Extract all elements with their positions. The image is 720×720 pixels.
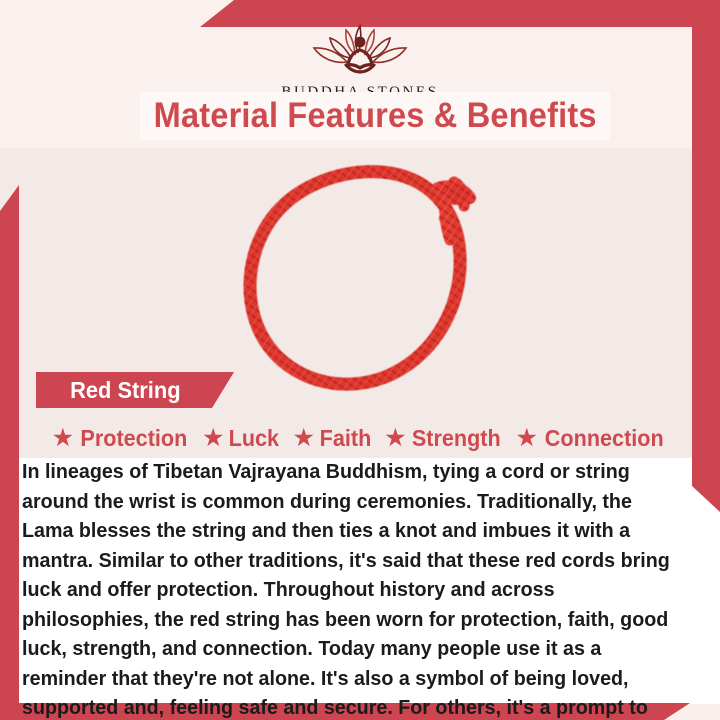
page-title-band: Material Features & Benefits (140, 92, 610, 140)
star-icon: ★ (517, 427, 537, 449)
brand-logo: BUDDHA STONES (0, 20, 720, 101)
benefits-row: ★ Protection ★ Luck ★ Faith ★ Strength ★… (22, 420, 698, 456)
product-name-ribbon: Red String (36, 372, 234, 408)
product-image-red-string-bracelet (232, 152, 494, 400)
benefit-item-connection: ★ Connection (517, 425, 667, 452)
benefit-label: Strength (412, 425, 501, 452)
description-paragraph: In lineages of Tibetan Vajrayana Buddhis… (22, 458, 677, 720)
benefit-item-faith: ★ Faith (294, 425, 373, 452)
benefit-label: Luck (229, 425, 279, 452)
star-icon: ★ (53, 427, 73, 449)
benefit-item-strength: ★ Strength (386, 425, 504, 452)
benefit-label: Protection (80, 425, 187, 452)
lotus-meditation-icon (300, 20, 420, 82)
benefit-item-luck: ★ Luck (203, 425, 280, 452)
star-icon: ★ (294, 427, 314, 449)
infographic-page: BUDDHA STONES Material Features & Benefi… (0, 0, 720, 720)
page-title: Material Features & Benefits (154, 96, 597, 136)
product-name-label: Red String (40, 377, 181, 404)
star-icon: ★ (203, 427, 223, 449)
benefit-label: Connection (544, 425, 663, 452)
benefit-item-protection: ★ Protection (53, 425, 190, 452)
star-icon: ★ (386, 427, 406, 449)
benefit-label: Faith (319, 425, 371, 452)
decor-bar-left (0, 185, 19, 704)
